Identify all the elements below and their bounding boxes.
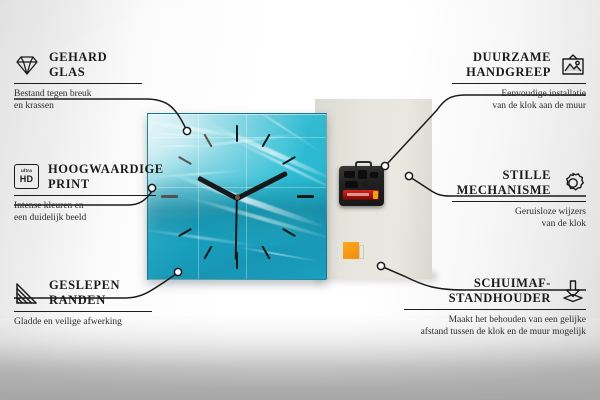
feature-desc: Eenvoudige installatie van de klok aan d… (452, 89, 586, 112)
foam-spacer-side (359, 245, 364, 259)
battery-label (347, 193, 369, 196)
gear-icon (560, 171, 586, 195)
feature-title: STILLE MECHANISME (457, 168, 551, 197)
feature-desc: Intense kleuren en een duidelijk beeld (14, 201, 156, 224)
feature-title: GEHARD GLAS (49, 50, 107, 79)
feature-rule (452, 83, 586, 84)
infographic-canvas: GEHARD GLAS Bestand tegen breuk en krass… (0, 0, 600, 400)
mechanism-detail (358, 170, 367, 179)
feature-rule (452, 201, 586, 202)
feature-rule (14, 83, 142, 84)
feature-title: HOOGWAARDIGE PRINT (48, 162, 164, 191)
mechanism-detail (345, 181, 358, 188)
feature-desc: Geruisloze wijzers van de klok (452, 207, 586, 230)
feature-stille-mechanisme: STILLE MECHANISME Geruisloze wijzers van… (452, 168, 586, 230)
feature-rule (14, 195, 156, 196)
feature-duurzame-handgreep: DUURZAME HANDGREEP Eenvoudige installati… (452, 50, 586, 112)
glass-clock-face (147, 113, 327, 280)
mechanism-detail (344, 171, 355, 178)
picture-frame-icon (560, 53, 586, 77)
ultra-hd-icon: ultra HD (14, 164, 39, 189)
foam-stand-icon (560, 279, 586, 303)
clock-mechanism (339, 166, 384, 206)
ultra-hd-icon-main-label: HD (20, 175, 33, 184)
mechanism-detail (362, 181, 369, 187)
feature-desc: Maakt het behouden van een gelijke afsta… (404, 315, 586, 338)
battery (343, 190, 379, 200)
feature-rule (14, 311, 152, 312)
foam-spacer (343, 242, 359, 259)
diamond-icon (14, 53, 40, 77)
feature-title: DUURZAME HANDGREEP (466, 50, 551, 79)
product-photo (140, 96, 340, 286)
feature-desc: Bestand tegen breuk en krassen (14, 89, 142, 112)
feature-title: SCHUIMAF- STANDHOUDER (449, 276, 551, 305)
feature-geslepen-randen: GESLEPEN RANDEN Gladde en veilige afwerk… (14, 278, 152, 329)
mechanism-detail (370, 172, 378, 178)
feature-desc: Gladde en veilige afwerking (14, 317, 152, 329)
clock-glass-gloss (148, 114, 326, 279)
feature-rule (404, 309, 586, 310)
feature-gehard-glas: GEHARD GLAS Bestand tegen breuk en krass… (14, 50, 142, 112)
feature-title: GESLEPEN RANDEN (49, 278, 120, 307)
feature-schuimafstandhouder: SCHUIMAF- STANDHOUDER Maakt het behouden… (404, 276, 586, 338)
beveled-edges-icon (14, 281, 40, 305)
feature-hoogwaardige-print: ultra HD HOOGWAARDIGE PRINT Intense kleu… (14, 162, 156, 224)
battery-terminal (373, 191, 378, 199)
